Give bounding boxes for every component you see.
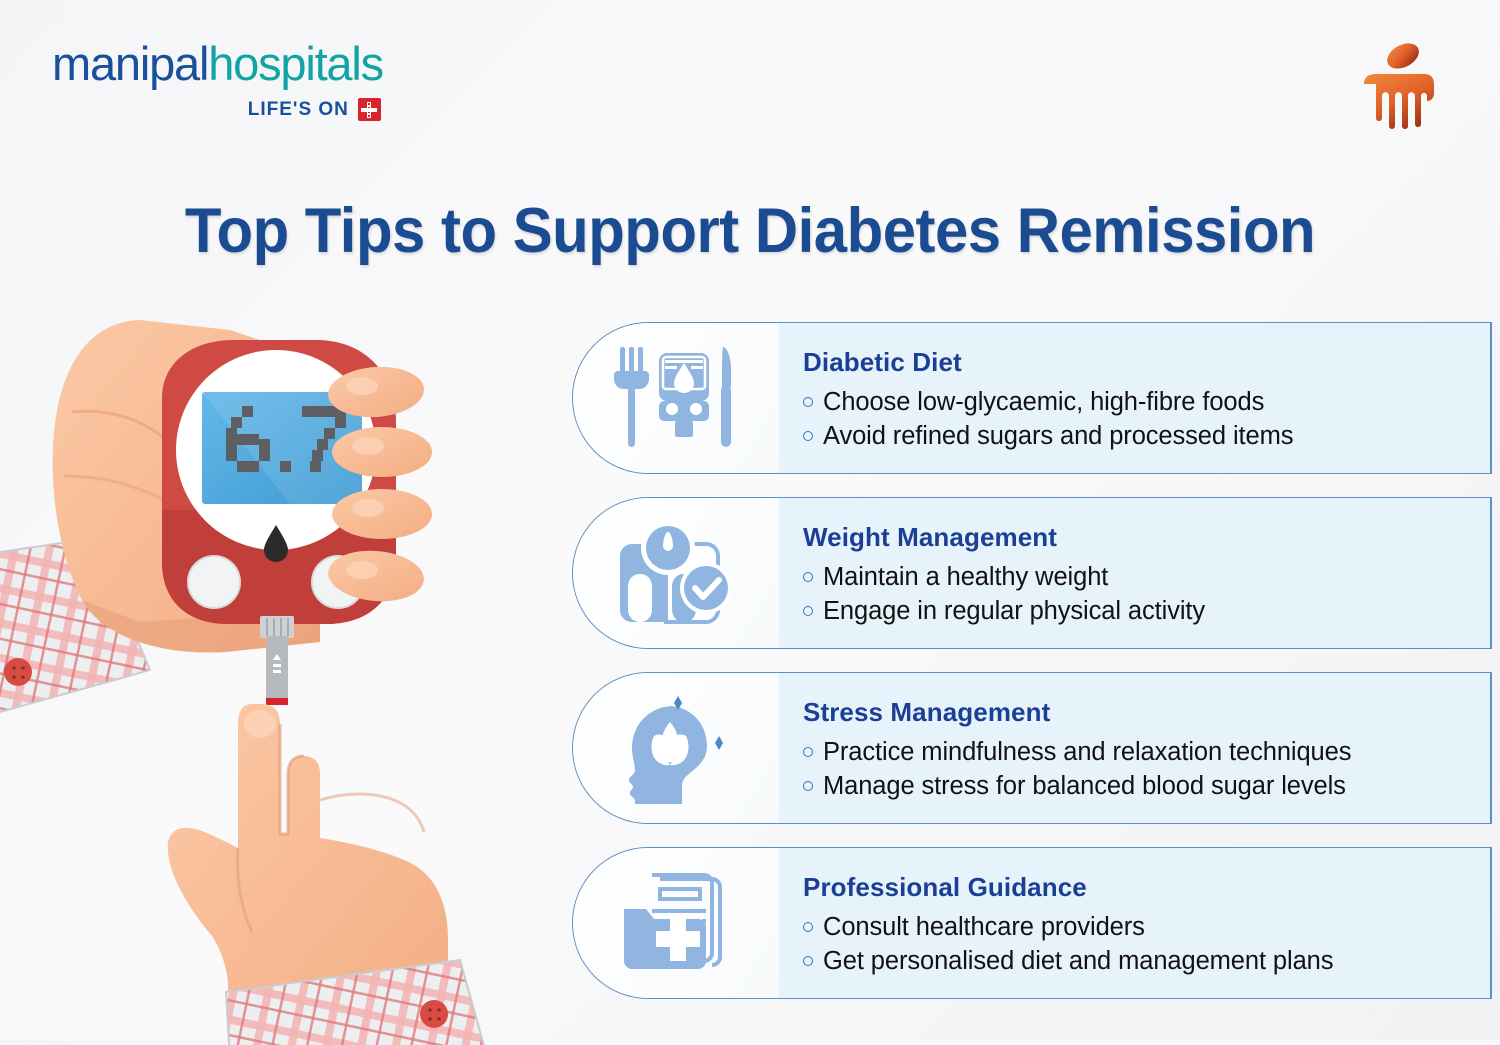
card-content: Weight Management Maintain a healthy wei…	[779, 498, 1492, 648]
list-item: Maintain a healthy weight	[803, 560, 1470, 594]
medical-cross-icon	[358, 98, 381, 121]
bullet-text: Get personalised diet and management pla…	[823, 944, 1333, 978]
tip-card-diabetic-diet[interactable]: Diabetic Diet Choose low-glycaemic, high…	[572, 322, 1492, 474]
list-item: Consult healthcare providers	[803, 910, 1470, 944]
card-bullets: Maintain a healthy weight Engage in regu…	[803, 560, 1470, 628]
bullet-circle-icon	[803, 922, 813, 932]
list-item: Manage stress for balanced blood sugar l…	[803, 769, 1470, 803]
list-item: Choose low-glycaemic, high-fibre foods	[803, 385, 1470, 419]
manipal-corner-mark-icon	[1356, 38, 1442, 130]
tip-card-professional-guidance[interactable]: Professional Guidance Consult healthcare…	[572, 847, 1492, 999]
bullet-circle-icon	[803, 781, 813, 791]
bullet-text: Manage stress for balanced blood sugar l…	[823, 769, 1346, 803]
bullet-circle-icon	[803, 606, 813, 616]
test-strip-icon	[260, 616, 294, 705]
tip-card-weight-management[interactable]: Weight Management Maintain a healthy wei…	[572, 497, 1492, 649]
card-bullets: Consult healthcare providers Get persona…	[803, 910, 1470, 978]
tip-card-stress-management[interactable]: Stress Management Practice mindfulness a…	[572, 672, 1492, 824]
brand-logo[interactable]: manipalhospitals LIFE'S ON	[52, 40, 383, 121]
brand-name-second: hospitals	[208, 37, 383, 90]
medical-folder-records-icon	[573, 848, 779, 998]
brand-name-first: manipal	[52, 37, 208, 90]
bullet-text: Consult healthcare providers	[823, 910, 1145, 944]
bullet-circle-icon	[803, 747, 813, 757]
list-item: Avoid refined sugars and processed items	[803, 419, 1470, 453]
card-title: Diabetic Diet	[803, 348, 1470, 378]
lower-hand-pointing	[168, 704, 488, 1045]
card-content: Professional Guidance Consult healthcare…	[779, 848, 1492, 998]
tips-card-list: Diabetic Diet Choose low-glycaemic, high…	[572, 322, 1492, 1022]
bullet-text: Avoid refined sugars and processed items	[823, 419, 1293, 453]
list-item: Engage in regular physical activity	[803, 594, 1470, 628]
list-item: Practice mindfulness and relaxation tech…	[803, 735, 1470, 769]
bullet-circle-icon	[803, 431, 813, 441]
diet-glucometer-cutlery-icon	[573, 323, 779, 473]
card-content: Stress Management Practice mindfulness a…	[779, 673, 1492, 823]
card-bullets: Choose low-glycaemic, high-fibre foods A…	[803, 385, 1470, 453]
bullet-circle-icon	[803, 572, 813, 582]
card-title: Stress Management	[803, 698, 1470, 728]
bullet-text: Practice mindfulness and relaxation tech…	[823, 735, 1351, 769]
brand-tagline: LIFE'S ON	[248, 99, 349, 121]
brand-tagline-row: LIFE'S ON	[52, 98, 383, 121]
card-title: Professional Guidance	[803, 873, 1470, 903]
list-item: Get personalised diet and management pla…	[803, 944, 1470, 978]
card-title: Weight Management	[803, 523, 1470, 553]
card-content: Diabetic Diet Choose low-glycaemic, high…	[779, 323, 1492, 473]
card-bullets: Practice mindfulness and relaxation tech…	[803, 735, 1470, 803]
bullet-circle-icon	[803, 956, 813, 966]
brand-wordmark: manipalhospitals	[52, 40, 383, 87]
weight-scale-check-icon	[573, 498, 779, 648]
hand-holding-glucometer-illustration	[0, 300, 550, 1045]
bullet-circle-icon	[803, 397, 813, 407]
bullet-text: Choose low-glycaemic, high-fibre foods	[823, 385, 1264, 419]
device-button-left	[188, 556, 240, 608]
head-lotus-mindfulness-icon	[573, 673, 779, 823]
page-title: Top Tips to Support Diabetes Remission	[38, 195, 1463, 267]
bullet-text: Maintain a healthy weight	[823, 560, 1108, 594]
bullet-text: Engage in regular physical activity	[823, 594, 1205, 628]
